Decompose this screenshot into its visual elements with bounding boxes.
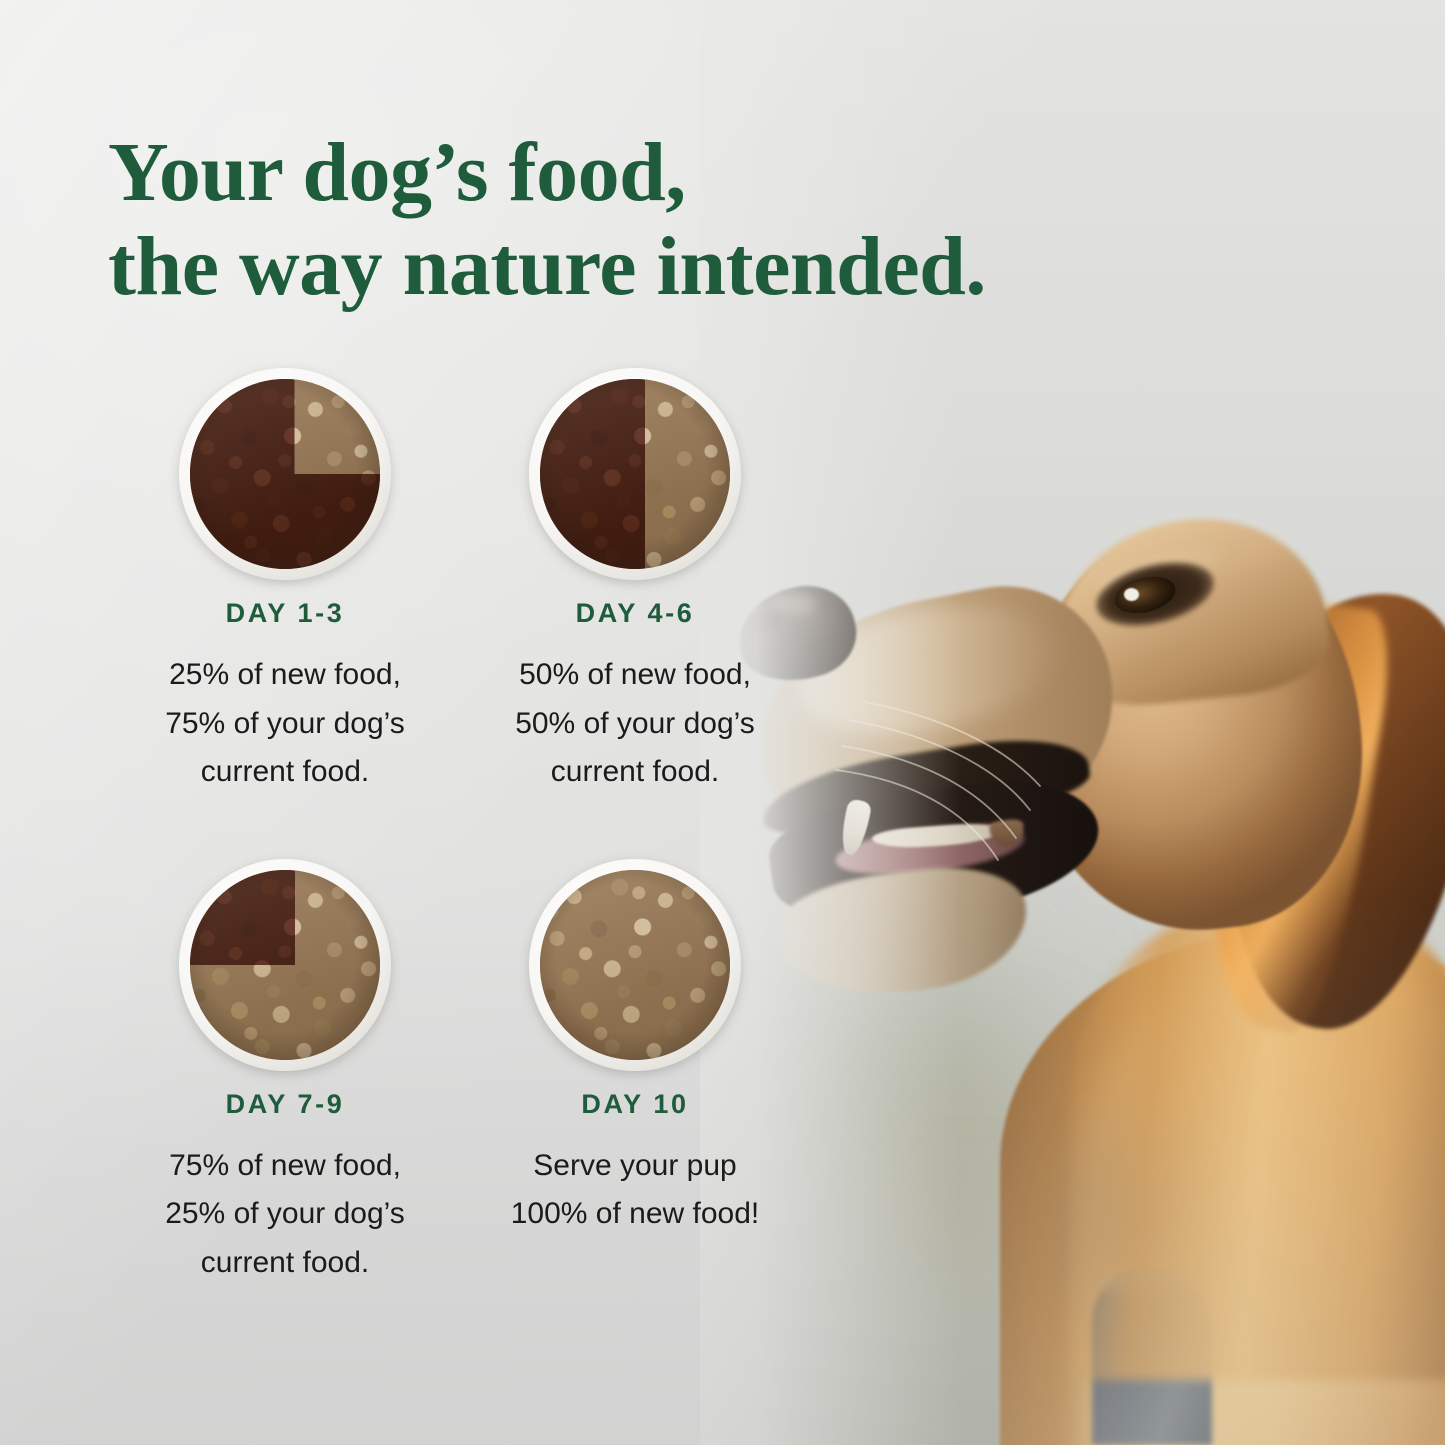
transition-steps: DAY 1-3 25% of new food, 75% of your dog… xyxy=(110,368,810,1288)
row-spacer xyxy=(110,797,810,859)
transition-step-day-4-6[interactable]: DAY 4-6 50% of new food, 50% of your dog… xyxy=(460,368,810,797)
dog-bowl-icon xyxy=(529,368,741,580)
day-label: DAY 10 xyxy=(581,1089,688,1120)
transition-step-row-1: DAY 1-3 25% of new food, 75% of your dog… xyxy=(110,368,810,797)
kibble-texture xyxy=(540,379,730,569)
bowl-interior xyxy=(190,870,380,1060)
transition-step-day-10[interactable]: DAY 10 Serve your pup 100% of new food! xyxy=(460,859,810,1288)
step-description: Serve your pup 100% of new food! xyxy=(485,1142,785,1239)
dog-bowl-icon xyxy=(529,859,741,1071)
kibble-texture xyxy=(540,870,730,1060)
day-label: DAY 1-3 xyxy=(226,598,345,629)
bowl-interior xyxy=(540,379,730,569)
day-label: DAY 7-9 xyxy=(226,1089,345,1120)
step-description: 50% of new food, 50% of your dog’s curre… xyxy=(485,651,785,797)
step-description: 25% of new food, 75% of your dog’s curre… xyxy=(135,651,435,797)
transition-step-day-7-9[interactable]: DAY 7-9 75% of new food, 25% of your dog… xyxy=(110,859,460,1288)
bowl-interior xyxy=(540,870,730,1060)
dog-bowl-icon xyxy=(179,368,391,580)
kibble-texture xyxy=(190,379,380,569)
dog-bowl-icon xyxy=(179,859,391,1071)
bowl-interior xyxy=(190,379,380,569)
step-description: 75% of new food, 25% of your dog’s curre… xyxy=(135,1142,435,1288)
day-label: DAY 4-6 xyxy=(576,598,695,629)
kibble-texture xyxy=(190,870,380,1060)
transition-step-row-2: DAY 7-9 75% of new food, 25% of your dog… xyxy=(110,859,810,1288)
page-title: Your dog’s food, the way nature intended… xyxy=(108,126,1108,314)
transition-guide-graphic: Your dog’s food, the way nature intended… xyxy=(0,0,1445,1445)
transition-step-day-1-3[interactable]: DAY 1-3 25% of new food, 75% of your dog… xyxy=(110,368,460,797)
